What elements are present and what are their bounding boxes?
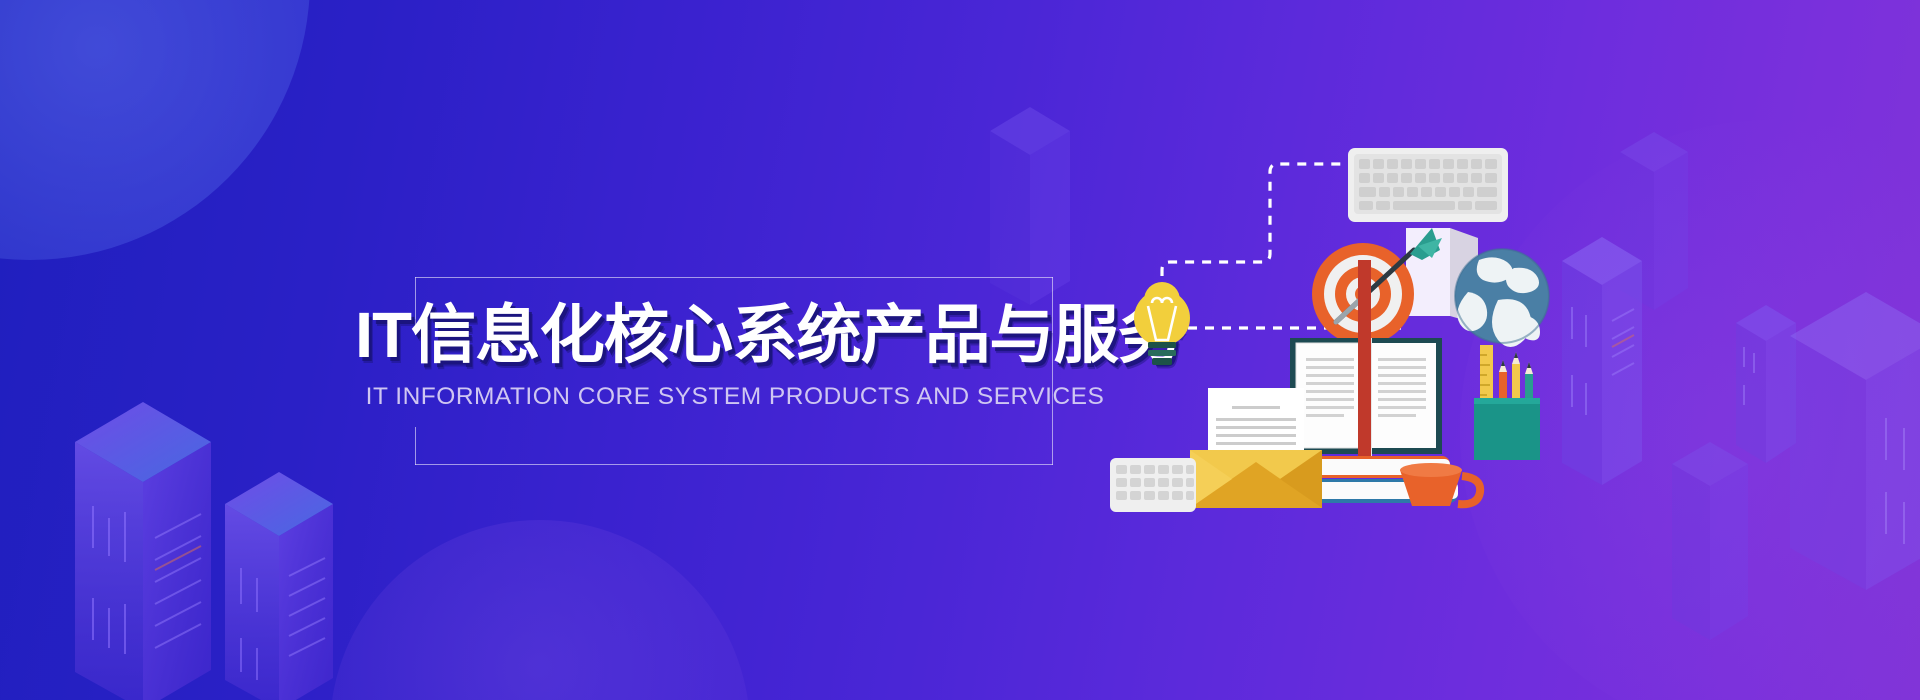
- background-circle-top-left: [0, 0, 310, 260]
- pencil-holder-icon: [1474, 398, 1540, 460]
- lightbulb-icon: [1134, 282, 1190, 365]
- coffee-cup-icon: [1400, 463, 1480, 506]
- bookmark-icon: [1358, 260, 1371, 472]
- building-right-medium: [1736, 303, 1826, 463]
- globe-icon: [1455, 249, 1549, 347]
- hero-banner: IT信息化核心系统产品与服务 IT INFORMATION CORE SYSTE…: [0, 0, 1920, 700]
- frame-border-left-lower: [415, 427, 416, 465]
- envelope-icon: [1190, 450, 1322, 508]
- building-center-tall: [990, 105, 1100, 305]
- hero-illustration: [1110, 110, 1590, 490]
- page-title: IT信息化核心系统产品与服务: [355, 303, 1130, 367]
- title-block: IT信息化核心系统产品与服务 IT INFORMATION CORE SYSTE…: [415, 277, 1053, 465]
- keyboard-icon: [1348, 148, 1508, 222]
- building-far-right-large: [1790, 290, 1920, 590]
- background-circle-bottom-center: [330, 520, 750, 700]
- building-right-small: [1620, 130, 1720, 310]
- frame-border-bottom: [415, 464, 1053, 465]
- keyboard-secondary-icon: [1110, 458, 1196, 512]
- building-bottom-left-large: [75, 400, 275, 700]
- page-subtitle: IT INFORMATION CORE SYSTEM PRODUCTS AND …: [353, 383, 1117, 411]
- building-bottom-left-small: [225, 470, 385, 700]
- building-far-right-short: [1672, 440, 1782, 640]
- frame-border-top: [415, 277, 1053, 278]
